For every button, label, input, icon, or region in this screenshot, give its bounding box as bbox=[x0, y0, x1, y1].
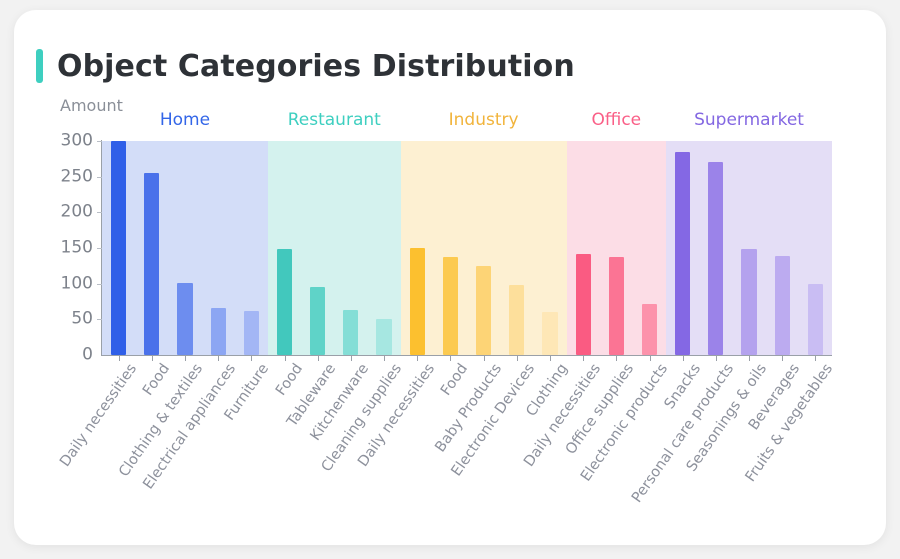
y-tick-label: 300 bbox=[61, 131, 93, 151]
x-tick-label-text: Food bbox=[273, 361, 306, 399]
group-title: Supermarket bbox=[694, 110, 804, 130]
y-tick-label: 50 bbox=[71, 309, 93, 329]
title-text: Object Categories Distribution bbox=[57, 49, 575, 84]
x-tick-label-text: Food bbox=[140, 361, 173, 399]
bar[interactable] bbox=[111, 141, 126, 355]
y-tick-label: 0 bbox=[82, 345, 93, 365]
group-title: Home bbox=[160, 110, 210, 130]
group-title: Restaurant bbox=[288, 110, 381, 130]
title-accent-bar bbox=[36, 49, 43, 83]
y-tick-label: 100 bbox=[61, 273, 93, 293]
group-title: Industry bbox=[449, 110, 519, 130]
bar-chart: Amount 050100150200250300HomeRestaurantI… bbox=[14, 96, 886, 544]
y-tick-label: 250 bbox=[61, 166, 93, 186]
y-tick-label: 200 bbox=[61, 202, 93, 222]
screenshot-root: Object Categories Distribution Amount 05… bbox=[0, 0, 900, 559]
x-tick-label-text: Food bbox=[438, 361, 471, 399]
chart-card: Object Categories Distribution Amount 05… bbox=[14, 10, 886, 545]
x-axis-labels: Daily necessitiesFoodClothing & textiles… bbox=[102, 361, 832, 541]
y-axis-title: Amount bbox=[60, 96, 123, 115]
group-title: Office bbox=[592, 110, 642, 130]
y-tick-label: 150 bbox=[61, 238, 93, 258]
page-title: Object Categories Distribution bbox=[36, 46, 575, 86]
